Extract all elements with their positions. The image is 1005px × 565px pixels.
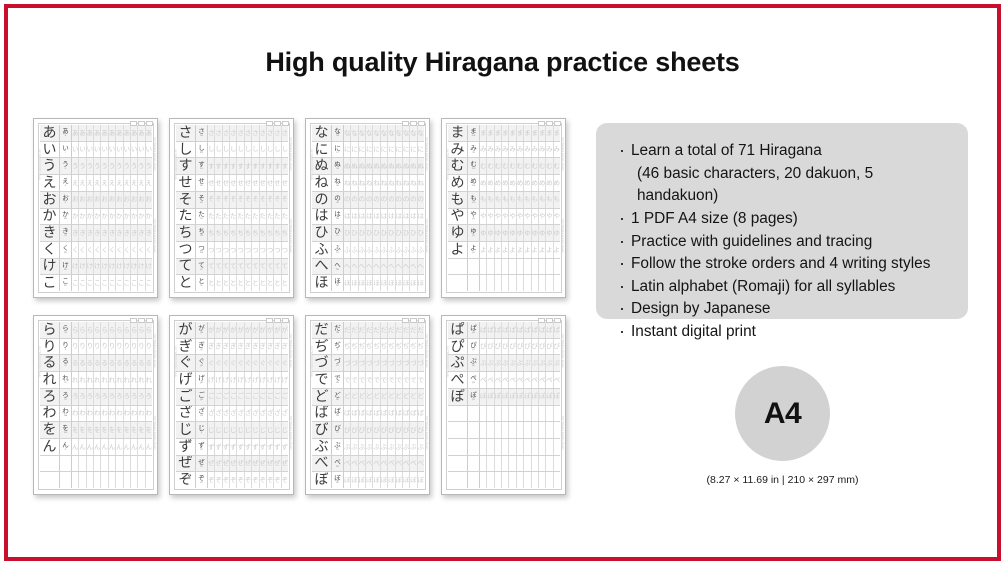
tracing-cell: れ xyxy=(131,372,138,388)
tracing-cell: ほ xyxy=(410,275,417,291)
tracing-cell: ふ xyxy=(366,242,373,258)
tracing-cell xyxy=(539,406,546,422)
tracing-cell: へ xyxy=(359,259,366,275)
tracing-cell: ご xyxy=(267,389,274,405)
tracing-cell: を xyxy=(94,422,101,438)
tracing-cell: ひ xyxy=(403,225,410,241)
practice-row: ああaあああああああああああ xyxy=(40,125,152,142)
tracing-cell: げ xyxy=(237,372,244,388)
tracing-cells: ぴぴぴぴぴぴぴぴぴぴぴ xyxy=(480,339,560,355)
tracing-cell: た xyxy=(274,209,281,225)
model-character: じ xyxy=(176,422,196,438)
tracing-cells xyxy=(72,472,152,488)
tracing-cell: じ xyxy=(230,422,237,438)
tracing-cell: と xyxy=(237,275,244,291)
tracing-cell: ぶ xyxy=(359,439,366,455)
tracing-cells: ぽぽぽぽぽぽぽぽぽぽぽ xyxy=(480,389,560,405)
practice-row: ととtoととととととととととと xyxy=(176,275,288,291)
tracing-cell: ゆ xyxy=(502,225,509,241)
sheet-page-body: ささsaさささささささささささししshiしししししししししししすすsuすすすすす… xyxy=(174,123,290,293)
tracing-cell: せ xyxy=(237,175,244,191)
romaji-label: ba xyxy=(336,415,339,418)
romaji-label: ne xyxy=(336,185,339,188)
tracing-cell: だ xyxy=(351,322,358,338)
tracing-cells xyxy=(480,422,560,438)
model-character xyxy=(40,456,60,472)
character-with-romaji: だda xyxy=(332,322,344,338)
model-character: ち xyxy=(176,225,196,241)
feature-list-item: Latin alphabet (Romaji) for all syllable… xyxy=(618,276,950,299)
tracing-cell xyxy=(495,275,502,291)
tracing-cell: す xyxy=(274,158,281,174)
character-with-romaji: ろro xyxy=(60,389,72,405)
tracing-cell: ぴ xyxy=(495,339,502,355)
tracing-cell: あ xyxy=(138,125,145,141)
tracing-cell: ぷ xyxy=(539,355,546,371)
tracing-cells: ははははははははははは xyxy=(344,209,424,225)
tracing-cell: る xyxy=(94,355,101,371)
tracing-cell: そ xyxy=(208,192,215,208)
tracing-cell: こ xyxy=(131,275,138,291)
romaji-label: bu xyxy=(336,449,339,452)
sheet-margin-watermark: For Hiragana practice sheets xyxy=(443,149,449,209)
model-character: ま xyxy=(448,125,468,141)
tracing-cell: ほ xyxy=(344,275,351,291)
tracing-cell: ぴ xyxy=(532,339,539,355)
tracing-cell: ほ xyxy=(396,275,403,291)
tracing-cell: ぞ xyxy=(230,472,237,488)
tracing-cell: ふ xyxy=(373,242,380,258)
tracing-cell: い xyxy=(109,142,116,158)
practice-row: けけkeけけけけけけけけけけけ xyxy=(40,259,152,276)
model-character: め xyxy=(448,175,468,191)
tracing-cell: ら xyxy=(109,322,116,338)
practice-sheet-thumbnail[interactable]: For Hiragana practice sheetsFor Hiragana… xyxy=(305,118,430,298)
tracing-cell: り xyxy=(79,339,86,355)
character-with-romaji: かka xyxy=(60,209,72,225)
model-character: ざ xyxy=(176,406,196,422)
tracing-cells: ばばばばばばばばばばば xyxy=(344,406,424,422)
tracing-cells: べべべべべべべべべべべ xyxy=(344,456,424,472)
tracing-cell: て xyxy=(230,259,237,275)
tracing-cell: ね xyxy=(373,175,380,191)
tracing-cell: は xyxy=(344,209,351,225)
tracing-cell xyxy=(131,456,138,472)
tracing-cell: だ xyxy=(344,322,351,338)
tracing-cell: へ xyxy=(396,259,403,275)
tracing-cell: ぺ xyxy=(495,372,502,388)
tracing-cell xyxy=(539,422,546,438)
tracing-cell: げ xyxy=(230,372,237,388)
tracing-cell: け xyxy=(124,259,131,275)
practice-sheet-thumbnail[interactable]: For Hiragana practice sheetsFor Hiragana… xyxy=(441,315,566,495)
tracing-cell: ぬ xyxy=(344,158,351,174)
character-with-romaji: あa xyxy=(60,125,72,141)
tracing-cell: れ xyxy=(109,372,116,388)
tracing-cell: い xyxy=(116,142,123,158)
tracing-cell: よ xyxy=(524,242,531,258)
tracing-cell: ぐ xyxy=(274,355,281,371)
tracing-cell: え xyxy=(79,175,86,191)
tracing-cell: な xyxy=(410,125,417,141)
tracing-cell: ど xyxy=(366,389,373,405)
tracing-cell: つ xyxy=(208,242,215,258)
model-character: み xyxy=(448,142,468,158)
model-character: が xyxy=(176,322,196,338)
tracing-cell xyxy=(72,456,79,472)
practice-row: びびbiびびびびびびびびびびび xyxy=(312,422,424,439)
tracing-cell: さ xyxy=(267,125,274,141)
tracing-cell: を xyxy=(72,422,79,438)
tracing-cell: ぴ xyxy=(539,339,546,355)
tracing-cells: あああああああああああ xyxy=(72,125,152,141)
tracing-cell: く xyxy=(109,242,116,258)
romaji-label: do xyxy=(336,399,339,402)
sheet-margin-watermark: For Hiragana practice sheets xyxy=(150,416,156,486)
tracing-cell: た xyxy=(215,209,222,225)
tracing-cell xyxy=(480,406,487,422)
tracing-cell xyxy=(524,259,531,275)
tracing-cell xyxy=(539,259,546,275)
tracing-cells: れれれれれれれれれれれ xyxy=(72,372,152,388)
character-with-romaji: ゆyu xyxy=(468,225,480,241)
tracing-cell: へ xyxy=(373,259,380,275)
tracing-cell: ご xyxy=(245,389,252,405)
practice-sheet-thumbnail[interactable]: For Hiragana practice sheetsFor Hiragana… xyxy=(169,118,294,298)
tracing-cell: ち xyxy=(223,225,230,241)
tracing-cell: ま xyxy=(517,125,524,141)
tracing-cell: ぜ xyxy=(260,456,267,472)
tracing-cell: ぽ xyxy=(502,389,509,405)
tracing-cell: わ xyxy=(138,406,145,422)
tracing-cell: ぞ xyxy=(274,472,281,488)
tracing-cell: は xyxy=(373,209,380,225)
tracing-cell: ぜ xyxy=(230,456,237,472)
tracing-cell: ご xyxy=(237,389,244,405)
tracing-cell: ど xyxy=(396,389,403,405)
tracing-cell: ぎ xyxy=(274,339,281,355)
tracing-cell: ぎ xyxy=(208,339,215,355)
tracing-cell: と xyxy=(252,275,259,291)
sheet-margin-watermark: For Hiragana practice sheets xyxy=(558,416,564,486)
character-with-romaji: べbe xyxy=(332,456,344,472)
romaji-label: po xyxy=(472,399,475,402)
tracing-cell: べ xyxy=(410,456,417,472)
tracing-cell: す xyxy=(230,158,237,174)
tracing-cells: せせせせせせせせせせせ xyxy=(208,175,288,191)
tracing-cell xyxy=(487,259,494,275)
practice-row: ぽぽpoぽぽぽぽぽぽぽぽぽぽぽ xyxy=(448,389,560,406)
romaji-label: re xyxy=(64,382,66,385)
practice-sheet-thumbnail[interactable]: For Hiragana practice sheetsFor Hiragana… xyxy=(33,315,158,495)
tracing-cell: ぷ xyxy=(509,355,516,371)
tracing-cell: ざ xyxy=(260,406,267,422)
tracing-cell xyxy=(539,439,546,455)
practice-row: ちちchiちちちちちちちちちちち xyxy=(176,225,288,242)
tracing-cell: ぶ xyxy=(366,439,373,455)
tracing-cell: き xyxy=(101,225,108,241)
tracing-cell: ぶ xyxy=(381,439,388,455)
tracing-cell: ど xyxy=(381,389,388,405)
tracing-cell: わ xyxy=(116,406,123,422)
tracing-cell: だ xyxy=(359,322,366,338)
tracing-cell: ど xyxy=(403,389,410,405)
model-character: て xyxy=(176,259,196,275)
romaji-label: zo xyxy=(200,482,203,485)
tracing-cell: き xyxy=(116,225,123,241)
tracing-cell: と xyxy=(267,275,274,291)
feature-list-item: Instant digital print xyxy=(618,321,950,344)
tracing-cell: ぬ xyxy=(366,158,373,174)
practice-row xyxy=(448,439,560,456)
tracing-cells: よよよよよよよよよよよ xyxy=(480,242,560,258)
tracing-cell: じ xyxy=(267,422,274,438)
tracing-cell: ひ xyxy=(388,225,395,241)
tracing-cell: ぎ xyxy=(267,339,274,355)
model-character: あ xyxy=(40,125,60,141)
romaji-label: pi xyxy=(472,349,474,352)
tracing-cell: ぶ xyxy=(396,439,403,455)
tracing-cell xyxy=(480,275,487,291)
tracing-cell: し xyxy=(267,142,274,158)
tracing-cell: す xyxy=(267,158,274,174)
tracing-cell: し xyxy=(252,142,259,158)
tracing-cell: な xyxy=(351,125,358,141)
tracing-cell: ぢ xyxy=(381,339,388,355)
tracing-cell: げ xyxy=(208,372,215,388)
tracing-cell: ぱ xyxy=(532,322,539,338)
sheet-header-boxes xyxy=(402,121,425,126)
tracing-cell: ざ xyxy=(245,406,252,422)
tracing-cell: じ xyxy=(215,422,222,438)
model-character xyxy=(448,259,468,275)
tracing-cell: ぷ xyxy=(502,355,509,371)
tracing-cell: と xyxy=(208,275,215,291)
tracing-cell: す xyxy=(252,158,259,174)
tracing-cells: ほほほほほほほほほほほ xyxy=(344,275,424,291)
practice-row: ぐぐguぐぐぐぐぐぐぐぐぐぐぐ xyxy=(176,355,288,372)
practice-row: わわwaわわわわわわわわわわわ xyxy=(40,406,152,423)
tracing-cell: や xyxy=(502,209,509,225)
character-with-romaji: ぐgu xyxy=(196,355,208,371)
character-with-romaji: まma xyxy=(468,125,480,141)
model-character: そ xyxy=(176,192,196,208)
romaji-label: ge xyxy=(200,382,203,385)
feature-list-item: Practice with guidelines and tracing xyxy=(618,231,950,254)
tracing-cell: く xyxy=(116,242,123,258)
tracing-cell: け xyxy=(116,259,123,275)
tracing-cell: ぽ xyxy=(517,389,524,405)
tracing-cell: ず xyxy=(260,439,267,455)
tracing-cells: だだだだだだだだだだだ xyxy=(344,322,424,338)
tracing-cell: ぎ xyxy=(252,339,259,355)
romaji-label: ru xyxy=(64,365,66,368)
tracing-cell: れ xyxy=(79,372,86,388)
tracing-cell: す xyxy=(245,158,252,174)
practice-sheet-thumbnail[interactable]: For Hiragana practice sheetsFor Hiragana… xyxy=(169,315,294,495)
tracing-cell: ぜ xyxy=(208,456,215,472)
tracing-cell: ん xyxy=(124,439,131,455)
model-character: と xyxy=(176,275,196,291)
tracing-cell: て xyxy=(252,259,259,275)
tracing-cells: ゆゆゆゆゆゆゆゆゆゆゆ xyxy=(480,225,560,241)
tracing-cell: む xyxy=(517,158,524,174)
model-character: ぢ xyxy=(312,339,332,355)
tracing-cell: た xyxy=(223,209,230,225)
tracing-cell: ぜ xyxy=(267,456,274,472)
practice-row: ぷぷpuぷぷぷぷぷぷぷぷぷぷぷ xyxy=(448,355,560,372)
tracing-cell: ち xyxy=(252,225,259,241)
tracing-cell: の xyxy=(388,192,395,208)
character-with-romaji: ぴpi xyxy=(468,339,480,355)
tracing-cell: ぐ xyxy=(260,355,267,371)
practice-sheet-thumbnail[interactable]: For Hiragana practice sheetsFor Hiragana… xyxy=(305,315,430,495)
tracing-cell: お xyxy=(79,192,86,208)
romaji-label: yu xyxy=(472,235,475,238)
sheet-margin-watermark: For Hiragana practice sheets xyxy=(286,219,292,289)
tracing-cell: へ xyxy=(351,259,358,275)
practice-row xyxy=(448,275,560,291)
model-character xyxy=(448,439,468,455)
tracing-cell: ぴ xyxy=(502,339,509,355)
tracing-cell: は xyxy=(403,209,410,225)
sheet-page-body: だだdaだだだだだだだだだだだぢぢjiぢぢぢぢぢぢぢぢぢぢぢづづzuづづづづづづ… xyxy=(310,320,426,490)
tracing-cell: う xyxy=(72,158,79,174)
practice-row: どどdoどどどどどどどどどどど xyxy=(312,389,424,406)
tracing-cell: べ xyxy=(396,456,403,472)
tracing-cell: ぽ xyxy=(532,389,539,405)
tracing-cell: び xyxy=(351,422,358,438)
romaji-label: ki xyxy=(65,235,67,238)
tracing-cell: ね xyxy=(403,175,410,191)
tracing-cells: かかかかかかかかかかか xyxy=(72,209,152,225)
romaji-label: ku xyxy=(64,252,67,255)
model-character: げ xyxy=(176,372,196,388)
feature-list-item: (46 basic characters, 20 dakuon, 5 handa… xyxy=(618,163,950,208)
tracing-cell: ぎ xyxy=(230,339,237,355)
tracing-cell: む xyxy=(532,158,539,174)
tracing-cell: め xyxy=(480,175,487,191)
character-with-romaji: みmi xyxy=(468,142,480,158)
model-character xyxy=(448,456,468,472)
tracing-cell: が xyxy=(237,322,244,338)
tracing-cell: ず xyxy=(230,439,237,455)
model-character: ぴ xyxy=(448,339,468,355)
tracing-cell: を xyxy=(79,422,86,438)
practice-sheet-thumbnail[interactable]: For Hiragana practice sheetsFor Hiragana… xyxy=(33,118,158,298)
romaji-label: na xyxy=(336,135,339,138)
practice-row: ししshiししししししししししし xyxy=(176,142,288,159)
character-with-romaji: ぺpe xyxy=(468,372,480,388)
tracing-cell: か xyxy=(109,209,116,225)
tracing-cell: ぐ xyxy=(223,355,230,371)
tracing-cell: じ xyxy=(245,422,252,438)
tracing-cell: な xyxy=(359,125,366,141)
romaji-label: bo xyxy=(336,482,339,485)
tracing-cell: ぢ xyxy=(388,339,395,355)
tracing-cell: り xyxy=(101,339,108,355)
tracing-cell: ぜ xyxy=(245,456,252,472)
tracing-cell xyxy=(509,472,516,488)
tracing-cell: た xyxy=(252,209,259,225)
practice-row xyxy=(40,456,152,473)
tracing-cell: ね xyxy=(359,175,366,191)
tracing-cell: だ xyxy=(403,322,410,338)
character-with-romaji: ごgo xyxy=(196,389,208,405)
tracing-cell: け xyxy=(138,259,145,275)
tracing-cell: て xyxy=(267,259,274,275)
tracing-cell xyxy=(546,259,553,275)
tracing-cell xyxy=(109,472,116,488)
practice-row: めめmeめめめめめめめめめめめ xyxy=(448,175,560,192)
tracing-cell: ぷ xyxy=(546,355,553,371)
tracing-cell: ぱ xyxy=(546,322,553,338)
sheet-margin-watermark: For Hiragana practice sheets xyxy=(286,334,292,404)
character-with-romaji: そso xyxy=(196,192,208,208)
tracing-cell: て xyxy=(223,259,230,275)
tracing-cell: ち xyxy=(267,225,274,241)
tracing-cell: ぱ xyxy=(487,322,494,338)
tracing-cell: が xyxy=(208,322,215,338)
sheet-page-body: ががgaがががががががががががぎぎgiぎぎぎぎぎぎぎぎぎぎぎぐぐguぐぐぐぐぐぐ… xyxy=(174,320,290,490)
romaji-label: ni xyxy=(336,152,338,155)
tracing-cell: ゆ xyxy=(539,225,546,241)
tracing-cells: ぼぼぼぼぼぼぼぼぼぼぼ xyxy=(344,472,424,488)
model-character xyxy=(448,275,468,291)
tracing-cells: くくくくくくくくくくく xyxy=(72,242,152,258)
character-with-romaji: むmu xyxy=(468,158,480,174)
tracing-cell: く xyxy=(94,242,101,258)
tracing-cell: ぼ xyxy=(381,472,388,488)
tracing-cell: べ xyxy=(388,456,395,472)
tracing-cells: ててててててててててて xyxy=(208,259,288,275)
tracing-cells: すすすすすすすすすすす xyxy=(208,158,288,174)
tracing-cell: ん xyxy=(94,439,101,455)
tracing-cell: じ xyxy=(223,422,230,438)
feature-list-panel: Learn a total of 71 Hiragana(46 basic ch… xyxy=(596,123,968,319)
model-character: ぶ xyxy=(312,439,332,455)
practice-sheet-thumbnail[interactable]: For Hiragana practice sheetsFor Hiragana… xyxy=(441,118,566,298)
practice-row: みみmiみみみみみみみみみみみ xyxy=(448,142,560,159)
tracing-cell: き xyxy=(109,225,116,241)
tracing-cell: な xyxy=(396,125,403,141)
practice-row: ぴぴpiぴぴぴぴぴぴぴぴぴぴぴ xyxy=(448,339,560,356)
tracing-cell: だ xyxy=(410,322,417,338)
tracing-cell: り xyxy=(138,339,145,355)
model-character: ず xyxy=(176,439,196,455)
tracing-cell: ね xyxy=(396,175,403,191)
tracing-cell: ぶ xyxy=(373,439,380,455)
tracing-cell: な xyxy=(388,125,395,141)
tracing-cell: ぼ xyxy=(351,472,358,488)
tracing-cell xyxy=(509,422,516,438)
romaji-label: be xyxy=(336,466,339,469)
sheet-margin-watermark: For Hiragana practice sheets xyxy=(171,346,177,406)
tracing-cell: せ xyxy=(223,175,230,191)
tracing-cell: か xyxy=(87,209,94,225)
tracing-cell xyxy=(79,472,86,488)
tracing-cell: し xyxy=(237,142,244,158)
romaji-label: n xyxy=(65,449,66,452)
tracing-cell: う xyxy=(124,158,131,174)
tracing-cells: ぶぶぶぶぶぶぶぶぶぶぶ xyxy=(344,439,424,455)
tracing-cell: む xyxy=(524,158,531,174)
tracing-cell: ば xyxy=(410,406,417,422)
tracing-cell: あ xyxy=(87,125,94,141)
practice-row: ににniににににににににににに xyxy=(312,142,424,159)
model-character: ん xyxy=(40,439,60,455)
tracing-cell xyxy=(517,439,524,455)
